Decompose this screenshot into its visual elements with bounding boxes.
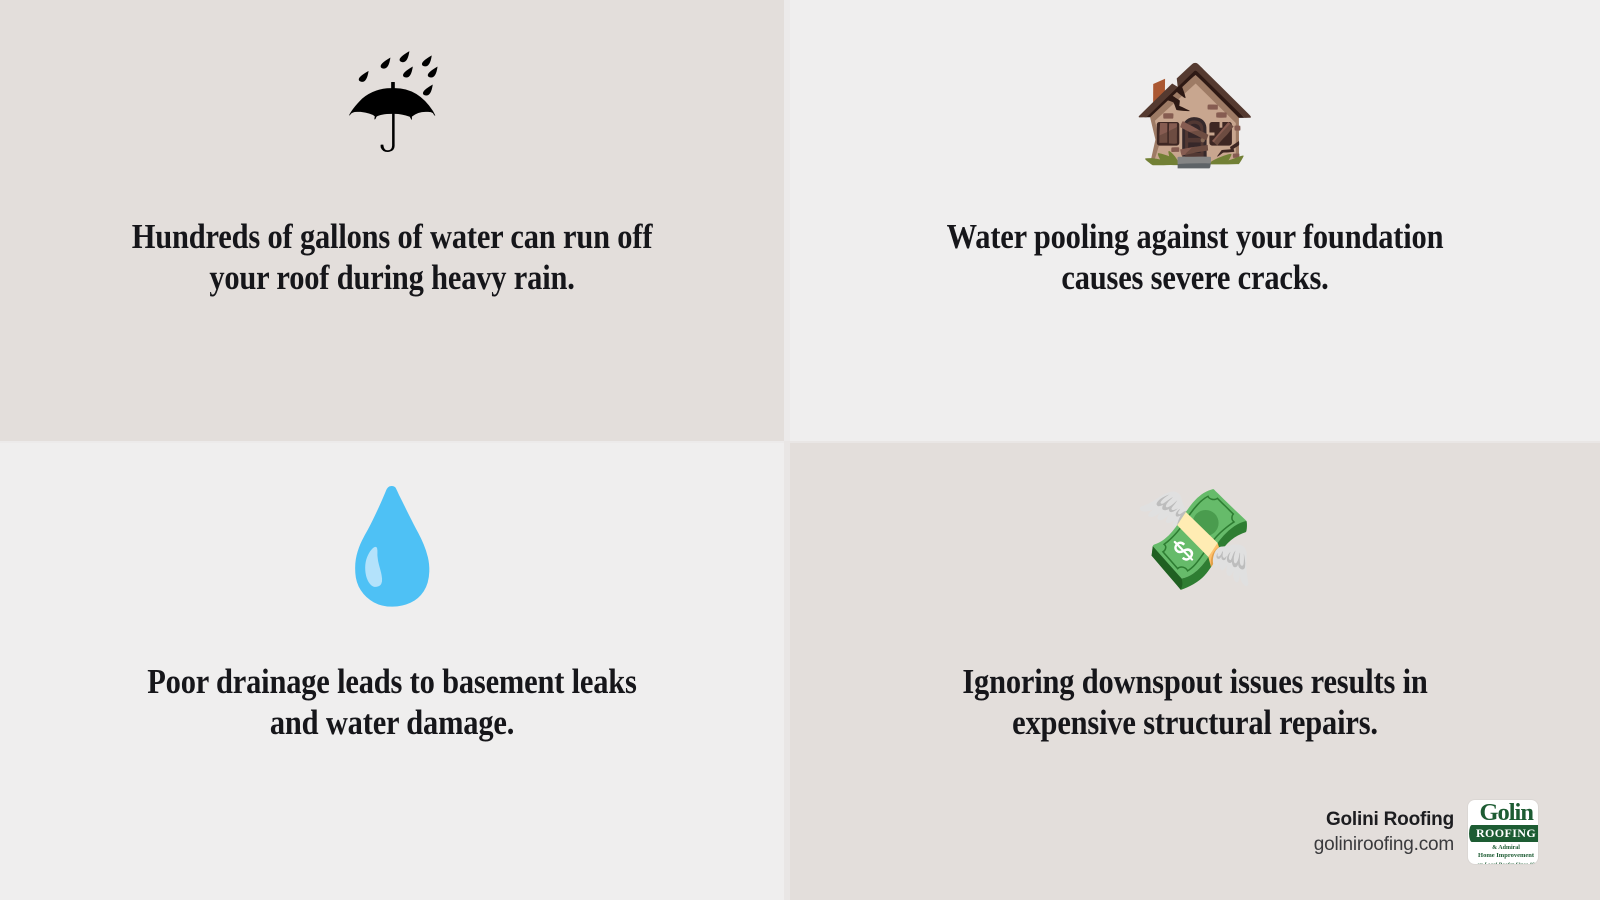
money-with-wings-icon: 💸 [1134, 491, 1256, 589]
logo-wordmark: Golin [1479, 803, 1532, 824]
golini-roofing-logo[interactable]: Golin ROOFING & Admiral Home Improvement… [1468, 800, 1538, 864]
brand-website-url[interactable]: goliniroofing.com [1314, 834, 1454, 856]
panel-basement-leaks: 💧 Poor drainage leads to basement leaks … [0, 441, 784, 900]
logo-subline-home-improvement: Home Improvement [1478, 852, 1534, 860]
logo-stack: Golin ROOFING & Admiral Home Improvement… [1468, 803, 1538, 864]
panel-rain-runoff-headline: Hundreds of gallons of water can run off… [79, 216, 705, 299]
panel-structural-repairs-headline: Ignoring downspout issues results in exp… [873, 661, 1517, 744]
panel-foundation-cracks: 🏚️ Water pooling against your foundation… [784, 0, 1600, 441]
panel-foundation-cracks-headline: Water pooling against your foundation ca… [873, 216, 1517, 299]
brand-name: Golini Roofing [1326, 809, 1454, 831]
logo-subline-admiral: & Admiral [1492, 845, 1520, 852]
panel-rain-runoff: ☔ Hundreds of gallons of water can run o… [0, 0, 784, 441]
logo-banner-roofing: ROOFING [1469, 825, 1538, 842]
infographic-grid: ☔ Hundreds of gallons of water can run o… [0, 0, 1600, 900]
umbrella-with-rain-drops-icon: ☔ [344, 62, 441, 170]
logo-tagline: on Local Roofer Since 19 [1477, 862, 1535, 864]
derelict-house-icon: 🏚️ [1131, 62, 1258, 164]
panel-basement-leaks-headline: Poor drainage leads to basement leaks an… [79, 661, 705, 744]
brand-block: Golini Roofing goliniroofing.com Golin R… [1314, 800, 1538, 864]
brand-text-block: Golini Roofing goliniroofing.com [1314, 809, 1454, 856]
droplet-icon: 💧 [324, 491, 461, 601]
